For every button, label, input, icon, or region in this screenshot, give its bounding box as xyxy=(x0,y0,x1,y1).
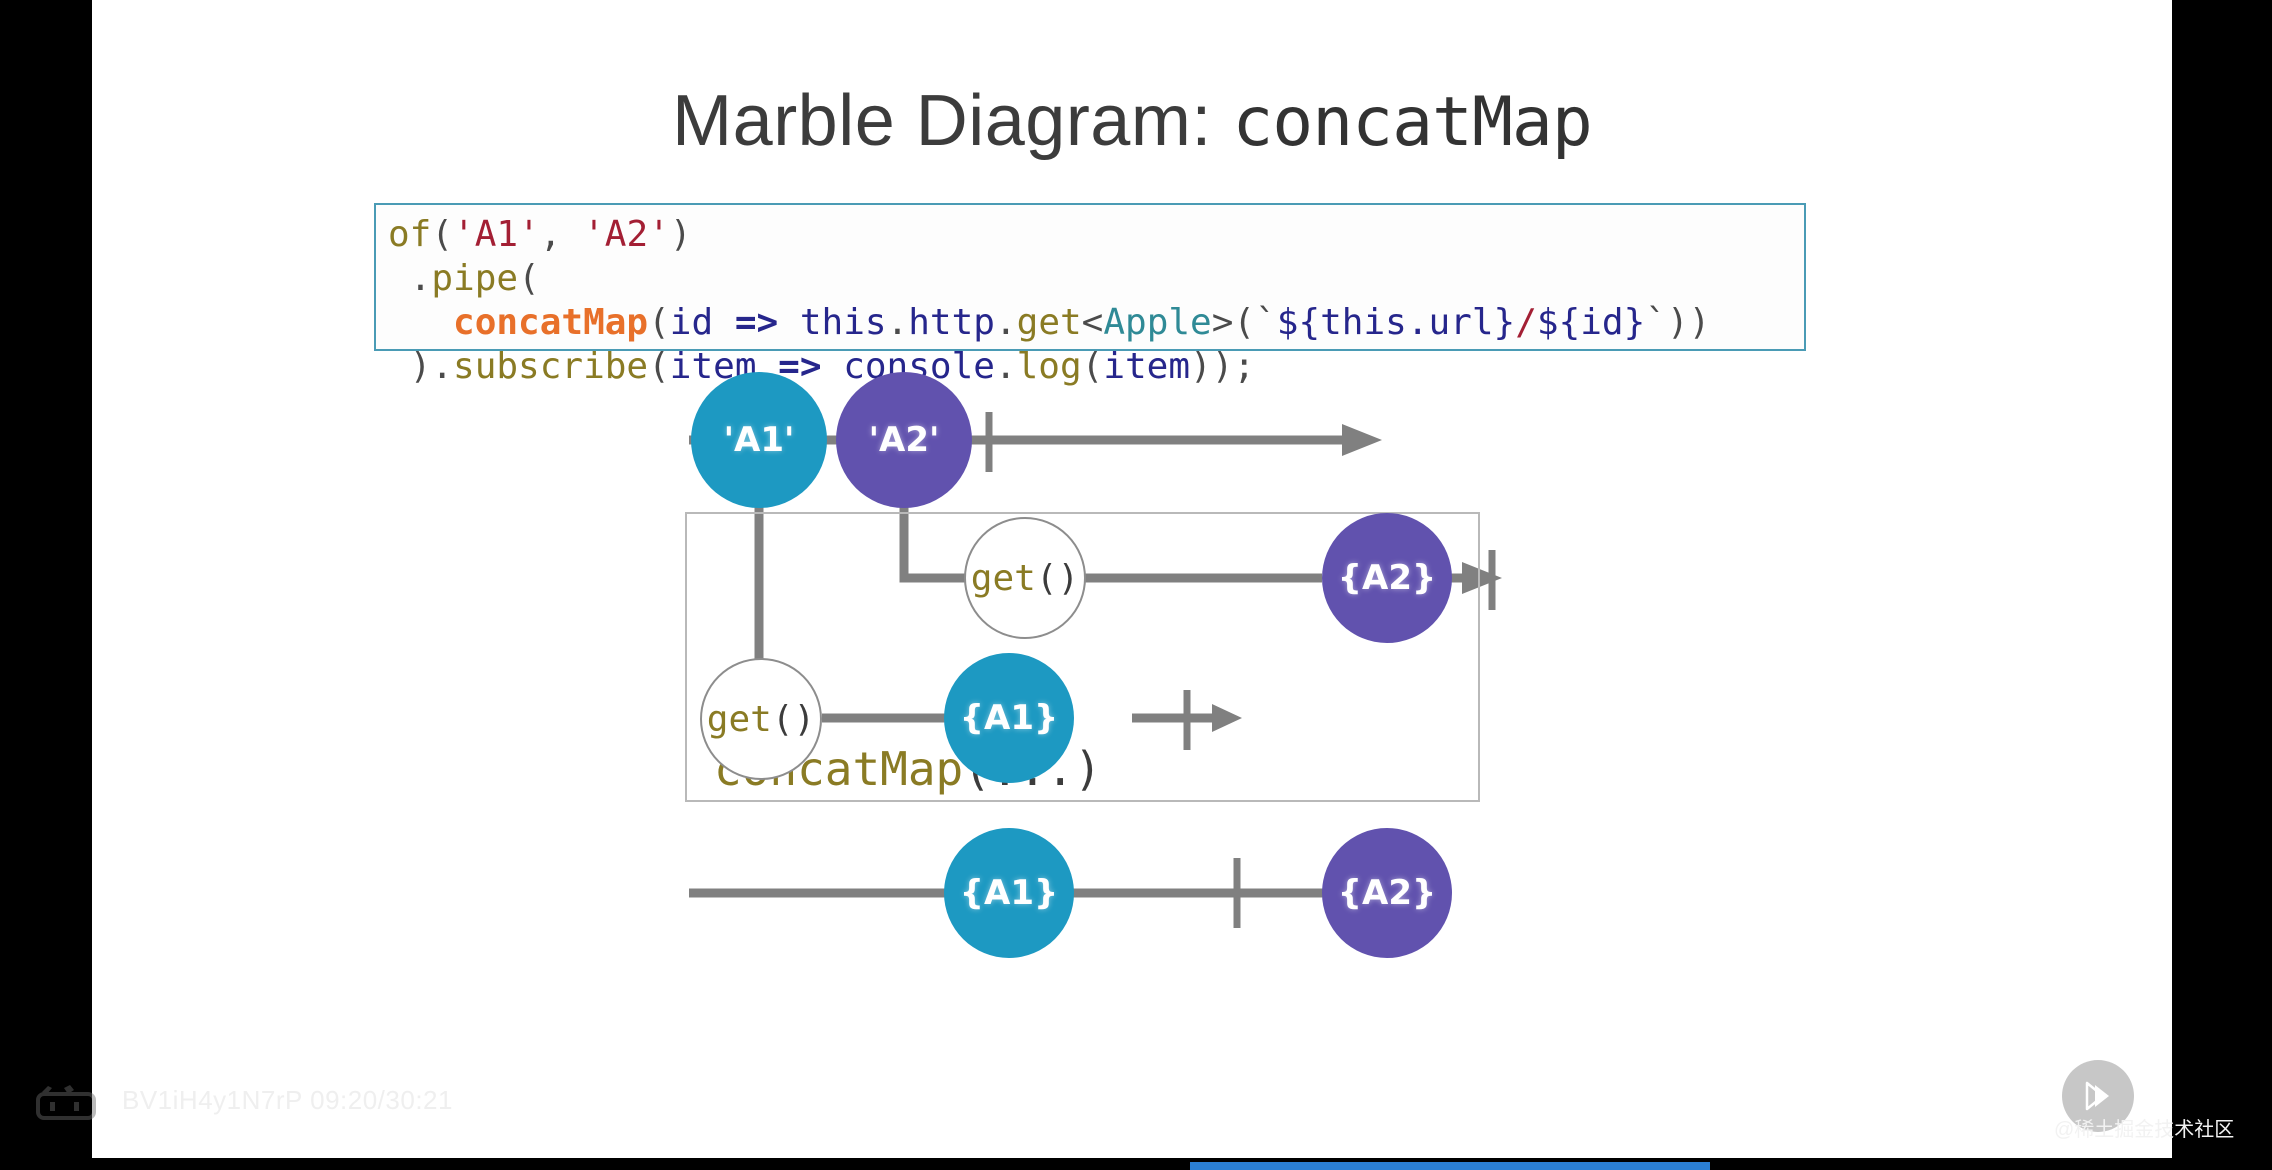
code-dot2: . xyxy=(995,302,1017,343)
code-tpl-id: ${id} xyxy=(1537,302,1645,343)
code-of-fn: of xyxy=(388,214,431,255)
code-paren: ( xyxy=(431,214,453,255)
code-gt: > xyxy=(1212,302,1234,343)
code-subscribe-fn: subscribe xyxy=(453,346,648,387)
code-var-this: this xyxy=(800,302,887,343)
marble-source-a2[interactable]: 'A2' xyxy=(836,372,972,508)
code-arrow: => xyxy=(713,302,800,343)
video-progress-bar[interactable] xyxy=(1190,1162,1710,1170)
marble-output-a2-label: {A2} xyxy=(1338,873,1436,913)
code-concatmap-fn: concatMap xyxy=(453,302,648,343)
code-var-http: http xyxy=(908,302,995,343)
source-arrow-head xyxy=(1342,424,1382,456)
code-dot1: . xyxy=(887,302,909,343)
code-block: of('A1', 'A2') .pipe( concatMap(id => th… xyxy=(374,203,1806,351)
code-comma: , xyxy=(540,214,583,255)
title-prefix: Marble Diagram: xyxy=(672,81,1232,161)
marble-source-a1[interactable]: 'A1' xyxy=(691,372,827,508)
marble-get-a1-label: get xyxy=(707,699,772,740)
code-tpl-open: (` xyxy=(1233,302,1276,343)
code-lt: < xyxy=(1082,302,1104,343)
code-paren3: ( xyxy=(648,302,670,343)
marble-get-a1[interactable]: get() xyxy=(700,658,822,780)
marble-get-a1-parens: () xyxy=(772,699,815,740)
code-var-id: id xyxy=(670,302,713,343)
marble-get-a2[interactable]: get() xyxy=(964,517,1086,639)
code-str-a2: 'A2' xyxy=(583,214,670,255)
code-log-fn: log xyxy=(1017,346,1082,387)
slide-canvas: Marble Diagram: concatMap of('A1', 'A2')… xyxy=(92,0,2172,1158)
code-dot: . xyxy=(388,258,431,299)
code-paren-close: ) xyxy=(670,214,692,255)
marble-output-a1-label: {A1} xyxy=(960,873,1058,913)
community-watermark: @稀土掘金技术社区 xyxy=(2054,1113,2234,1142)
code-tpl-url: ${this.url} xyxy=(1277,302,1515,343)
video-player-stage: Marble Diagram: concatMap of('A1', 'A2')… xyxy=(0,0,2272,1170)
code-get-fn: get xyxy=(1017,302,1082,343)
code-tpl-close: `)) xyxy=(1645,302,1710,343)
marble-get-a2-label: get xyxy=(971,558,1036,599)
video-info-text: BV1iH4y1N7rP 09:20/30:21 xyxy=(122,1085,453,1116)
bilibili-logo-icon xyxy=(34,1082,110,1122)
next-play-icon xyxy=(2076,1074,2120,1118)
code-dot3: . xyxy=(995,346,1017,387)
marble-inner-result-a1[interactable]: {A1} xyxy=(944,653,1074,783)
title-mono: concatMap xyxy=(1232,83,1591,162)
marble-get-a2-parens: () xyxy=(1036,558,1079,599)
marble-output-a1[interactable]: {A1} xyxy=(944,828,1074,958)
marble-inner-result-a1-label: {A1} xyxy=(960,698,1058,738)
code-paren2: ( xyxy=(518,258,540,299)
code-type-apple: Apple xyxy=(1103,302,1211,343)
marble-inner-result-a2[interactable]: {A2} xyxy=(1322,513,1452,643)
code-paren4: ( xyxy=(648,346,670,387)
marble-source-a2-label: 'A2' xyxy=(869,420,940,460)
code-close2: )); xyxy=(1190,346,1255,387)
marble-inner-result-a2-label: {A2} xyxy=(1338,558,1436,598)
code-tpl-slash: / xyxy=(1515,302,1537,343)
page-title: Marble Diagram: concatMap xyxy=(92,80,2172,162)
code-paren5: ( xyxy=(1082,346,1104,387)
code-pipe-fn: pipe xyxy=(431,258,518,299)
code-close1: ). xyxy=(388,346,453,387)
code-indent xyxy=(388,302,453,343)
marble-source-a1-label: 'A1' xyxy=(724,420,795,460)
code-var-item2: item xyxy=(1103,346,1190,387)
marble-output-a2[interactable]: {A2} xyxy=(1322,828,1452,958)
code-str-a1: 'A1' xyxy=(453,214,540,255)
